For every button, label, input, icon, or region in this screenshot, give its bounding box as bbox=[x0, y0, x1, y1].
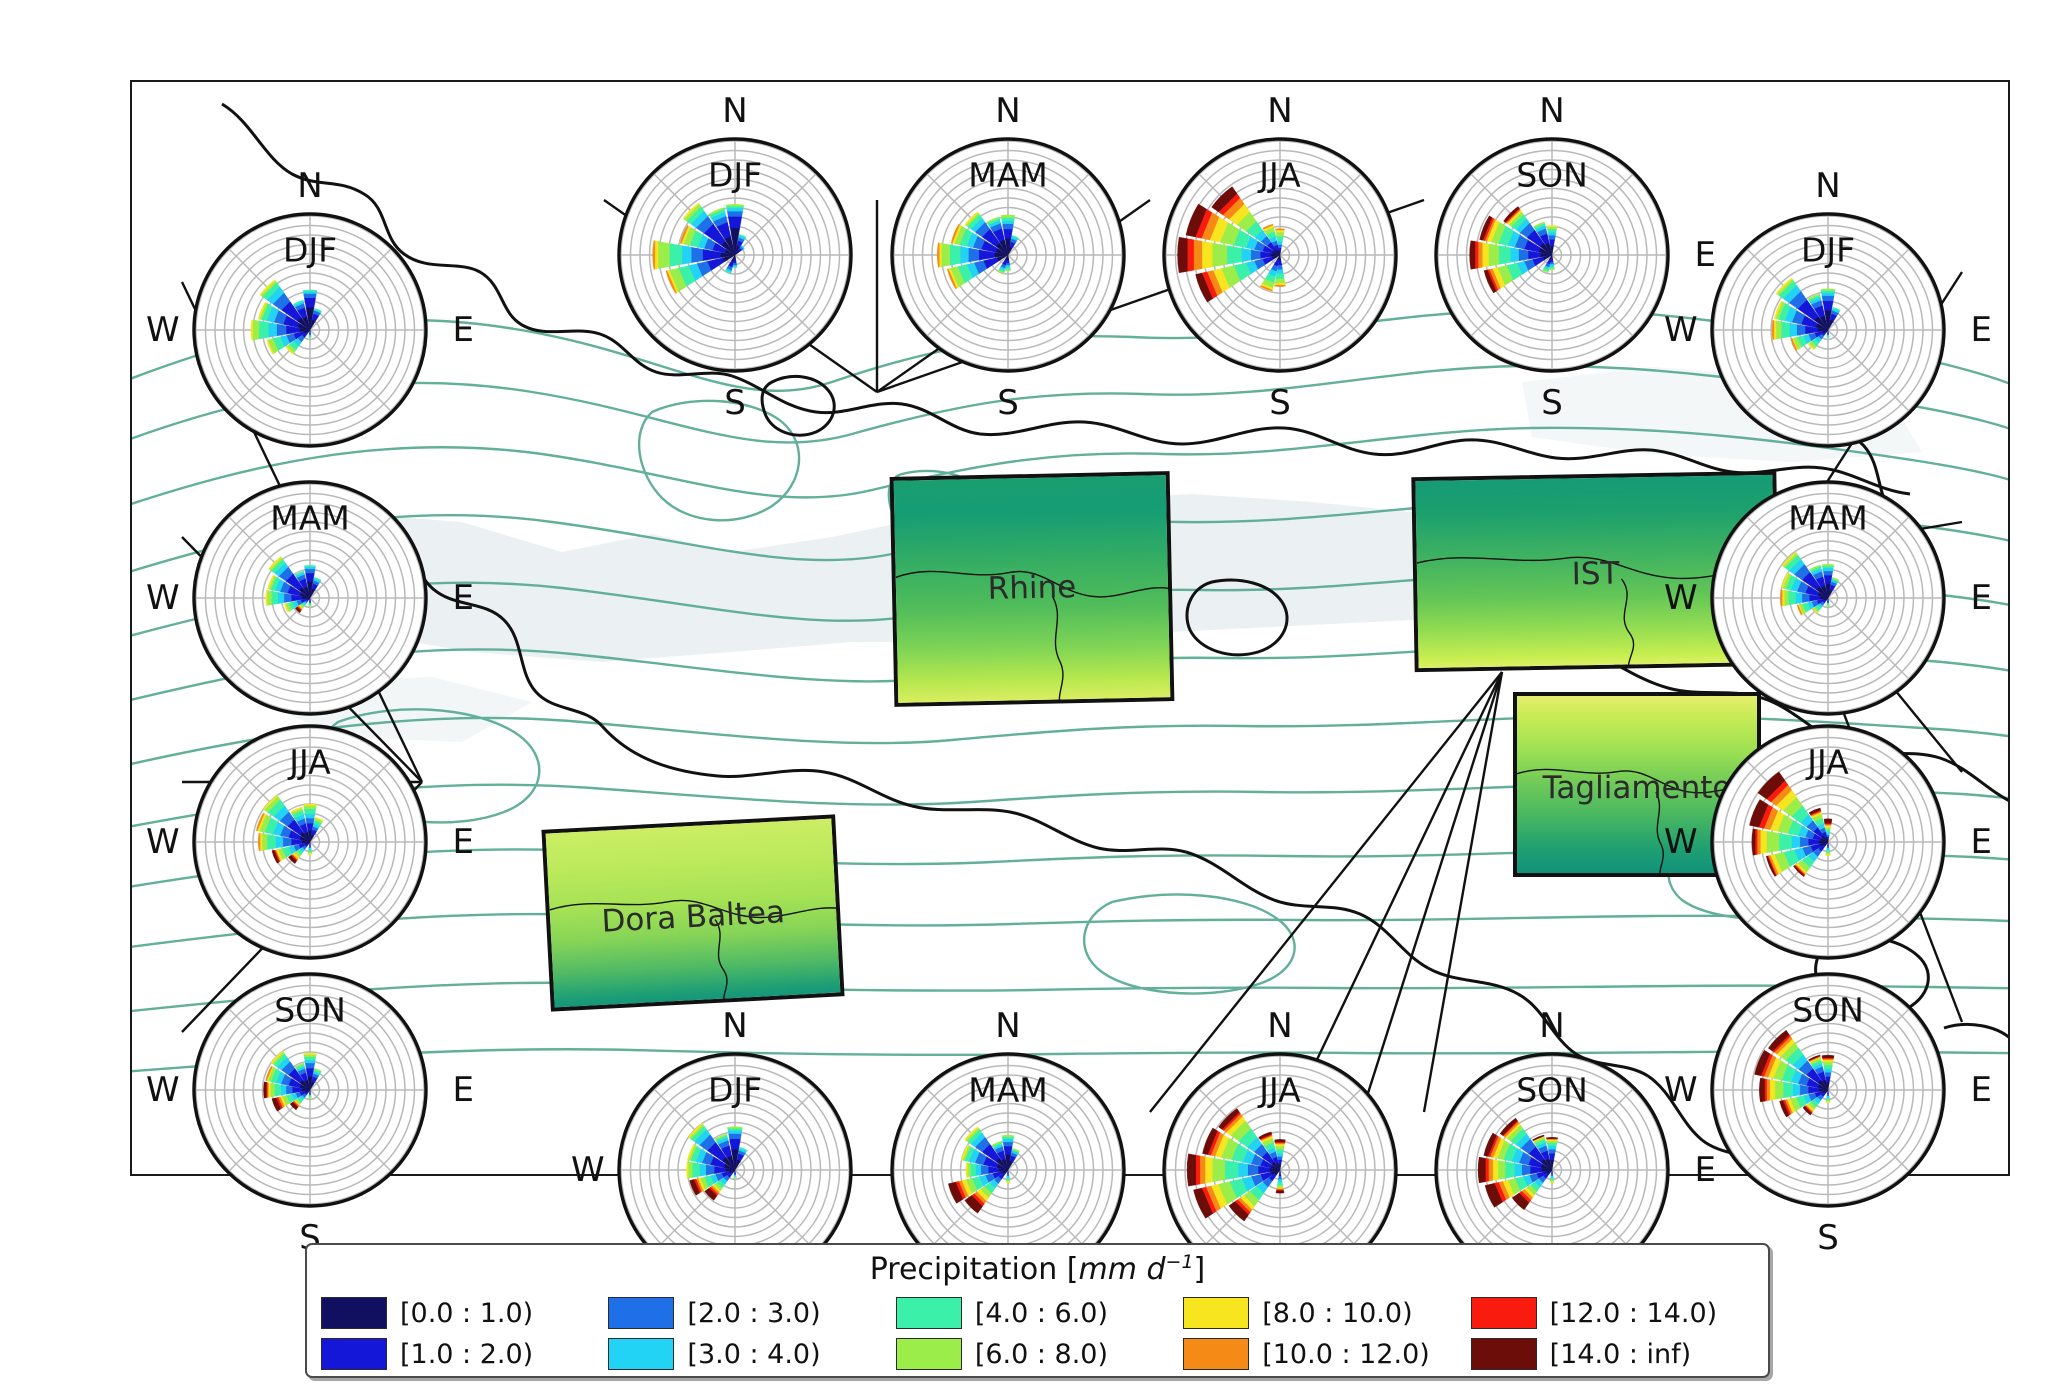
legend-color-swatch bbox=[608, 1297, 674, 1329]
compass-label-n: N bbox=[1434, 91, 1670, 131]
legend-unit-d: d bbox=[1146, 1252, 1165, 1287]
compass-label-s: S bbox=[890, 383, 1126, 423]
compass-label-e: E bbox=[453, 822, 474, 862]
compass-label-e: E bbox=[1971, 578, 1992, 618]
windrose-rhine-son[interactable]: SONNSE bbox=[1434, 137, 1670, 373]
legend-item: [0.0 : 1.0) bbox=[321, 1297, 608, 1329]
legend-range-label: [4.0 : 6.0) bbox=[975, 1298, 1108, 1329]
windrose-rhine-mam[interactable]: MAMNS bbox=[890, 137, 1126, 373]
windrose-season-label: SON bbox=[1792, 991, 1864, 1030]
legend-title-text: Precipitation [ bbox=[870, 1252, 1079, 1287]
compass-label-n: N bbox=[617, 91, 853, 131]
windrose-season-label: DJF bbox=[708, 156, 762, 195]
windrose-plot: JJA bbox=[192, 724, 428, 960]
compass-label-s: S bbox=[1162, 383, 1398, 423]
legend-item: [3.0 : 4.0) bbox=[608, 1338, 895, 1370]
legend-unit-mm: mm bbox=[1078, 1252, 1136, 1287]
compass-label-e: E bbox=[453, 1070, 474, 1110]
compass-label-n: N bbox=[192, 166, 428, 206]
legend-title: Precipitation [mm d−1] bbox=[307, 1251, 1768, 1287]
compass-label-e: E bbox=[453, 578, 474, 618]
compass-label-e: E bbox=[1695, 1150, 1716, 1190]
compass-label-n: N bbox=[1162, 91, 1398, 131]
compass-label-n: N bbox=[890, 91, 1126, 131]
legend-color-swatch bbox=[321, 1297, 387, 1329]
windrose-plot: JJA bbox=[1162, 137, 1398, 373]
legend-range-label: [0.0 : 1.0) bbox=[400, 1298, 533, 1329]
legend-color-swatch bbox=[896, 1338, 962, 1370]
windrose-plot: MAM bbox=[192, 480, 428, 716]
legend-range-label: [1.0 : 2.0) bbox=[400, 1339, 533, 1370]
compass-label-w: W bbox=[146, 822, 180, 862]
windrose-dora-jja[interactable]: JJAEW bbox=[192, 724, 428, 960]
legend-column: [12.0 : 14.0)[14.0 : inf) bbox=[1471, 1297, 1758, 1370]
compass-label-n: N bbox=[890, 1006, 1126, 1046]
legend-range-label: [6.0 : 8.0) bbox=[975, 1339, 1108, 1370]
legend-item: [6.0 : 8.0) bbox=[896, 1338, 1183, 1370]
legend-item: [10.0 : 12.0) bbox=[1183, 1338, 1470, 1370]
legend-item: [12.0 : 14.0) bbox=[1471, 1297, 1758, 1329]
legend-column: [2.0 : 3.0)[3.0 : 4.0) bbox=[608, 1297, 895, 1370]
compass-label-s: S bbox=[1434, 383, 1670, 423]
compass-label-e: E bbox=[453, 310, 474, 350]
windrose-plot: JJA bbox=[1710, 724, 1946, 960]
windrose-season-label: DJF bbox=[1801, 231, 1855, 270]
windrose-tag-mam[interactable]: MAMEW bbox=[1710, 480, 1946, 716]
precipitation-windrose-figure: RhineISTTagliamentoDora Baltea DJFNSMAMN… bbox=[0, 0, 2067, 1391]
legend-color-swatch bbox=[1471, 1297, 1537, 1329]
compass-label-w: W bbox=[571, 1150, 605, 1190]
compass-label-e: E bbox=[1971, 1070, 1992, 1110]
compass-label-w: W bbox=[146, 1070, 180, 1110]
legend-color-swatch bbox=[608, 1338, 674, 1370]
legend-item: [4.0 : 6.0) bbox=[896, 1297, 1183, 1329]
legend-item: [2.0 : 3.0) bbox=[608, 1297, 895, 1329]
windrose-tag-son[interactable]: SONSEW bbox=[1710, 972, 1946, 1208]
windrose-dora-djf[interactable]: DJFNEW bbox=[192, 212, 428, 448]
compass-label-e: E bbox=[1971, 822, 1992, 862]
compass-label-n: N bbox=[1710, 166, 1946, 206]
windrose-season-label: JJA bbox=[1805, 743, 1849, 782]
windrose-season-label: MAM bbox=[270, 499, 350, 538]
windrose-plot: DJF bbox=[617, 137, 853, 373]
legend-column: [0.0 : 1.0)[1.0 : 2.0) bbox=[321, 1297, 608, 1370]
compass-label-s: S bbox=[617, 383, 853, 423]
compass-label-w: W bbox=[146, 310, 180, 350]
windrose-plot: DJF bbox=[1710, 212, 1946, 448]
windrose-season-label: DJF bbox=[283, 231, 337, 270]
windrose-plot: SON bbox=[1434, 137, 1670, 373]
windrose-rhine-jja[interactable]: JJANS bbox=[1162, 137, 1398, 373]
windrose-plot: MAM bbox=[1710, 480, 1946, 716]
windrose-tag-djf[interactable]: DJFNEW bbox=[1710, 212, 1946, 448]
windrose-plot: MAM bbox=[890, 137, 1126, 373]
windrose-plot: DJF bbox=[192, 212, 428, 448]
legend-color-swatch bbox=[1183, 1297, 1249, 1329]
legend-item: [14.0 : inf) bbox=[1471, 1338, 1758, 1370]
legend-item: [1.0 : 2.0) bbox=[321, 1338, 608, 1370]
windrose-dora-mam[interactable]: MAMEW bbox=[192, 480, 428, 716]
windrose-rhine-djf[interactable]: DJFNS bbox=[617, 137, 853, 373]
compass-label-w: W bbox=[1664, 310, 1698, 350]
legend-color-swatch bbox=[1471, 1338, 1537, 1370]
legend-swatch-rows: [0.0 : 1.0)[1.0 : 2.0)[2.0 : 3.0)[3.0 : … bbox=[321, 1297, 1758, 1370]
windrose-season-label: JJA bbox=[1257, 156, 1301, 195]
legend-color-swatch bbox=[321, 1338, 387, 1370]
windrose-season-label: JJA bbox=[1257, 1071, 1301, 1110]
windrose-season-label: JJA bbox=[287, 743, 331, 782]
windrose-season-label: MAM bbox=[1788, 499, 1868, 538]
legend-panel: Precipitation [mm d−1] [0.0 : 1.0)[1.0 :… bbox=[305, 1243, 1770, 1378]
windrose-season-label: DJF bbox=[708, 1071, 762, 1110]
windrose-season-label: SON bbox=[274, 991, 346, 1030]
windrose-season-label: SON bbox=[1516, 1071, 1588, 1110]
legend-range-label: [12.0 : 14.0) bbox=[1550, 1298, 1718, 1329]
windrose-plot: SON bbox=[1710, 972, 1946, 1208]
windrose-season-label: MAM bbox=[968, 156, 1048, 195]
legend-item: [8.0 : 10.0) bbox=[1183, 1297, 1470, 1329]
compass-label-n: N bbox=[617, 1006, 853, 1046]
compass-label-e: E bbox=[1971, 310, 1992, 350]
legend-unit-exponent: −1 bbox=[1166, 1251, 1194, 1273]
legend-range-label: [8.0 : 10.0) bbox=[1262, 1298, 1412, 1329]
windrose-plot: SON bbox=[192, 972, 428, 1208]
windrose-season-label: MAM bbox=[968, 1071, 1048, 1110]
catchment-region-dorabaltea[interactable]: Dora Baltea bbox=[541, 814, 844, 1011]
compass-label-n: N bbox=[1434, 1006, 1670, 1046]
legend-color-swatch bbox=[896, 1297, 962, 1329]
legend-color-swatch bbox=[1183, 1338, 1249, 1370]
legend-column: [8.0 : 10.0)[10.0 : 12.0) bbox=[1183, 1297, 1470, 1370]
windrose-season-label: SON bbox=[1516, 156, 1588, 195]
legend-title-close: ] bbox=[1194, 1252, 1206, 1287]
legend-range-label: [14.0 : inf) bbox=[1550, 1339, 1692, 1370]
legend-range-label: [10.0 : 12.0) bbox=[1262, 1339, 1430, 1370]
compass-label-n: N bbox=[1162, 1006, 1398, 1046]
compass-label-w: W bbox=[1664, 578, 1698, 618]
legend-range-label: [2.0 : 3.0) bbox=[687, 1298, 820, 1329]
compass-label-w: W bbox=[146, 578, 180, 618]
windrose-dora-son[interactable]: SONSEW bbox=[192, 972, 428, 1208]
windrose-tag-jja[interactable]: JJAEW bbox=[1710, 724, 1946, 960]
legend-range-label: [3.0 : 4.0) bbox=[687, 1339, 820, 1370]
legend-column: [4.0 : 6.0)[6.0 : 8.0) bbox=[896, 1297, 1183, 1370]
compass-label-w: W bbox=[1664, 822, 1698, 862]
region-label: Rhine bbox=[896, 567, 1169, 609]
catchment-region-rhine[interactable]: Rhine bbox=[890, 471, 1175, 707]
